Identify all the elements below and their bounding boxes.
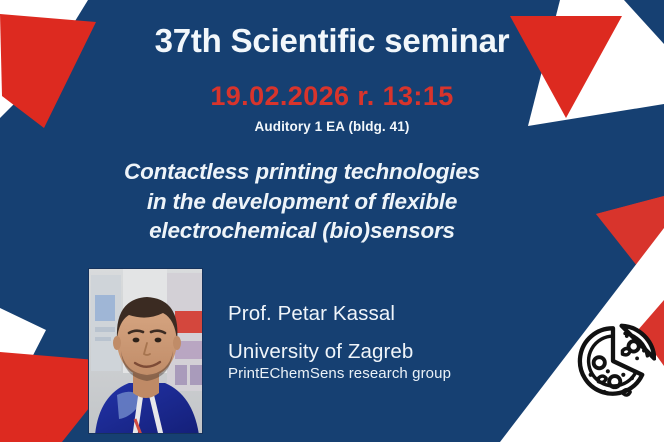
pizza-slice-icon — [570, 318, 656, 404]
page-title: 37th Scientific seminar — [0, 24, 664, 59]
seminar-venue: Auditory 1 EA (bldg. 41) — [0, 119, 664, 134]
speaker-research-group: PrintEChemSens research group — [228, 365, 451, 382]
talk-title-line-1: Contactless printing technologies — [52, 157, 552, 187]
speaker-affiliation: University of Zagreb — [228, 340, 413, 364]
talk-title-line-3: electrochemical (bio)sensors — [52, 216, 552, 246]
talk-title: Contactless printing technologies in the… — [52, 157, 552, 246]
seminar-poster: 37th Scientific seminar 19.02.2026 r. 13… — [0, 0, 664, 442]
speaker-name: Prof. Petar Kassal — [228, 302, 395, 326]
speaker-photo — [88, 268, 203, 434]
talk-title-line-2: in the development of flexible — [52, 187, 552, 217]
seminar-datetime: 19.02.2026 r. 13:15 — [0, 82, 664, 110]
speaker-portrait-image — [89, 269, 203, 434]
